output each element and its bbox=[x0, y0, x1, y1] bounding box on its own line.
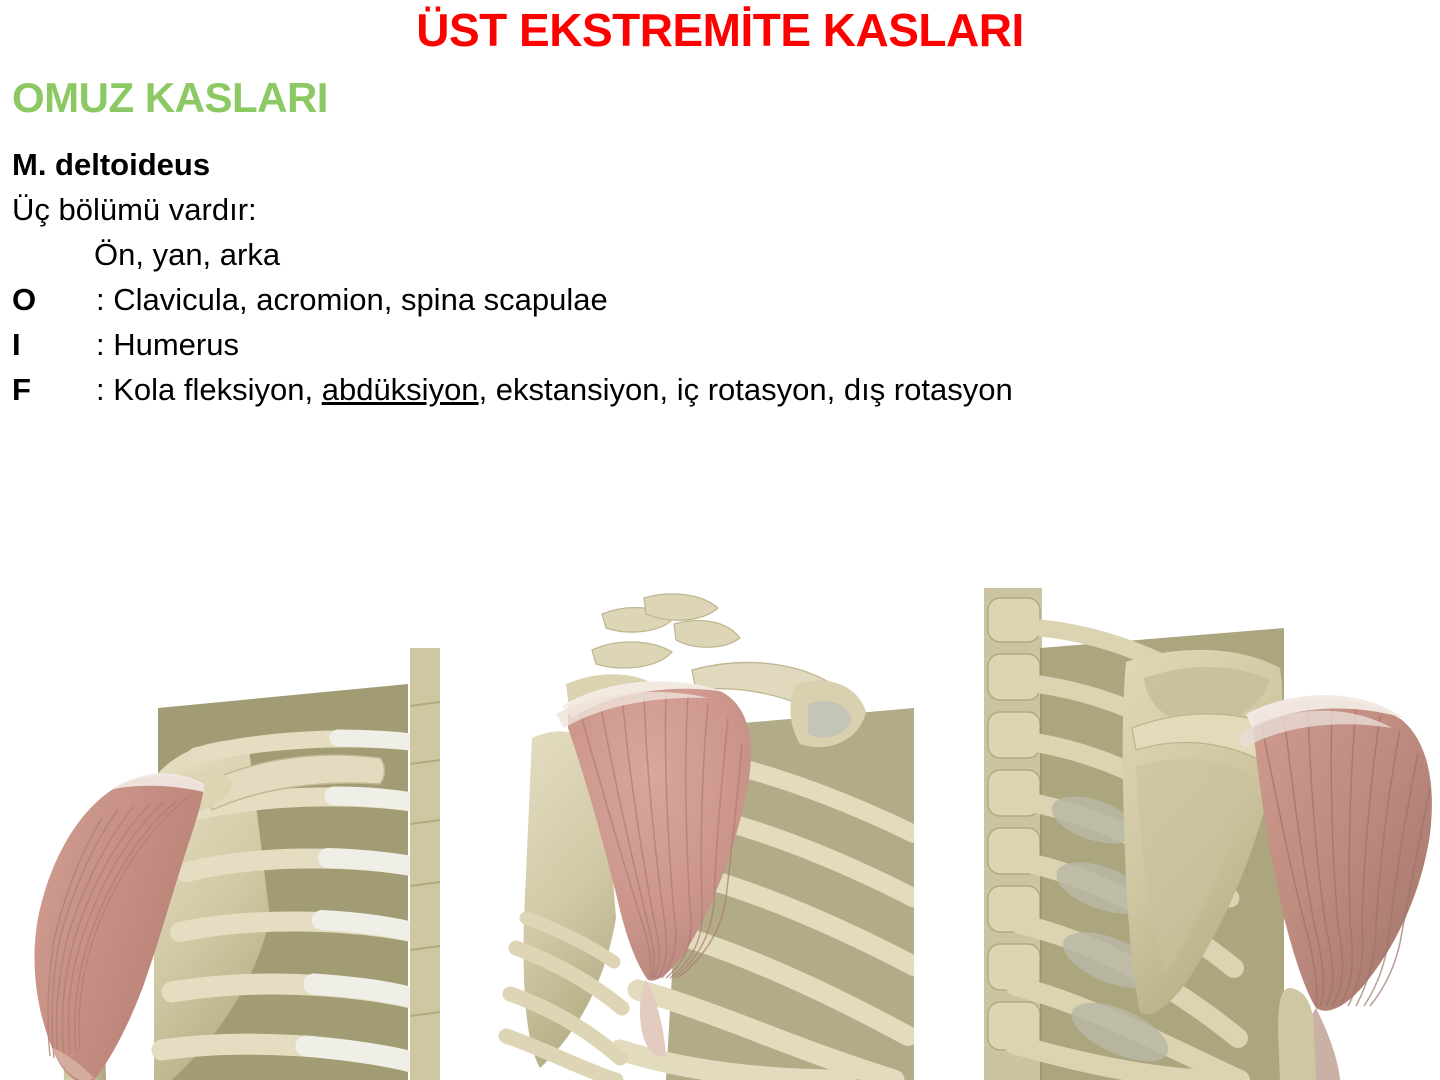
insertion-key: I bbox=[12, 322, 96, 367]
origin-row: O : Clavicula, acromion, spina scapulae bbox=[12, 277, 1412, 322]
function-value: : Kola fleksiyon, abdüksiyon, ekstansiyo… bbox=[96, 367, 1013, 412]
function-prefix: : Kola fleksiyon, bbox=[96, 372, 322, 407]
anterior-deltoid-view bbox=[8, 588, 440, 1080]
muscle-name: M. deltoideus bbox=[12, 142, 1412, 187]
section-subtitle: OMUZ KASLARI bbox=[12, 76, 328, 120]
page-title: ÜST EKSTREMİTE KASLARI bbox=[0, 6, 1440, 54]
origin-value: : Clavicula, acromion, spina scapulae bbox=[96, 277, 608, 322]
muscle-parts-intro: Üç bölümü vardır: bbox=[12, 187, 1412, 232]
origin-key: O bbox=[12, 277, 96, 322]
slide-root: ÜST EKSTREMİTE KASLARI OMUZ KASLARI M. d… bbox=[0, 0, 1440, 1080]
function-row: F : Kola fleksiyon, abdüksiyon, ekstansi… bbox=[12, 367, 1412, 412]
muscle-parts-list: Ön, yan, arka bbox=[12, 232, 1412, 277]
function-suffix: , ekstansiyon, iç rotasyon, dış rotasyon bbox=[479, 372, 1013, 407]
function-emphasis-abduksiyon: abdüksiyon bbox=[322, 372, 479, 407]
muscle-description-block: M. deltoideus Üç bölümü vardır: Ön, yan,… bbox=[12, 142, 1412, 412]
insertion-value: : Humerus bbox=[96, 322, 239, 367]
insertion-row: I : Humerus bbox=[12, 322, 1412, 367]
posterior-deltoid-view bbox=[984, 588, 1436, 1080]
lateral-deltoid-view bbox=[496, 588, 914, 1080]
figure-strip bbox=[0, 588, 1440, 1080]
function-key: F bbox=[12, 367, 96, 412]
